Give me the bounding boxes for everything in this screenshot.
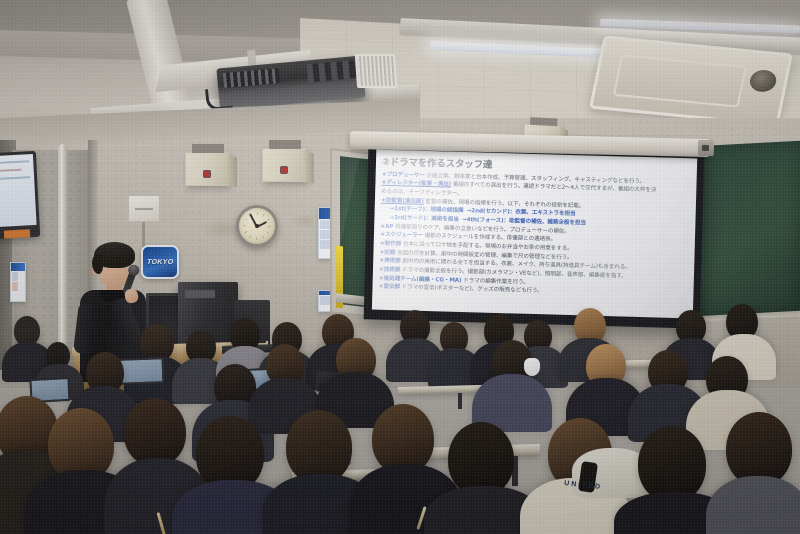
student-body <box>706 476 800 534</box>
audience: UNITED LOS A <box>0 300 800 534</box>
presenter-hair <box>94 242 135 268</box>
clock-center-pin <box>255 224 259 228</box>
side-monitor-screen <box>0 154 37 227</box>
wall-speaker <box>185 152 229 186</box>
lecture-hall-photo: 空調吹出口 TOKYO <box>0 0 800 534</box>
wall-poster <box>10 262 26 302</box>
wall-stain <box>290 213 320 229</box>
poster-body <box>11 271 25 292</box>
ac-nozzle <box>748 69 778 93</box>
face-mask <box>524 358 540 376</box>
wall-speaker <box>262 148 306 182</box>
ceiling-vent <box>355 54 397 88</box>
student-head <box>448 422 514 496</box>
desk-leg <box>458 393 462 409</box>
student-head <box>124 398 186 466</box>
screen-roller-cap <box>698 140 714 156</box>
student-head <box>638 426 706 502</box>
student-head <box>286 410 352 484</box>
screen-surface: ②ドラマを作るスタッフ達 ★プロデューサー 企画立案、脚本家と台本作成、予算管理… <box>372 150 697 319</box>
poster-header <box>11 263 25 271</box>
student-desk <box>398 385 484 394</box>
ac-grill <box>613 54 747 107</box>
slide-content: ②ドラマを作るスタッフ達 ★プロデューサー 企画立案、脚本家と台本作成、予算管理… <box>372 150 697 301</box>
side-display-monitor <box>0 151 40 239</box>
side-monitor-base <box>4 229 30 238</box>
student-head <box>726 412 792 486</box>
student-laptop <box>118 357 165 385</box>
chalkboard-right <box>700 141 800 316</box>
wall-clock <box>236 205 278 247</box>
wall-access-panel <box>128 195 160 222</box>
